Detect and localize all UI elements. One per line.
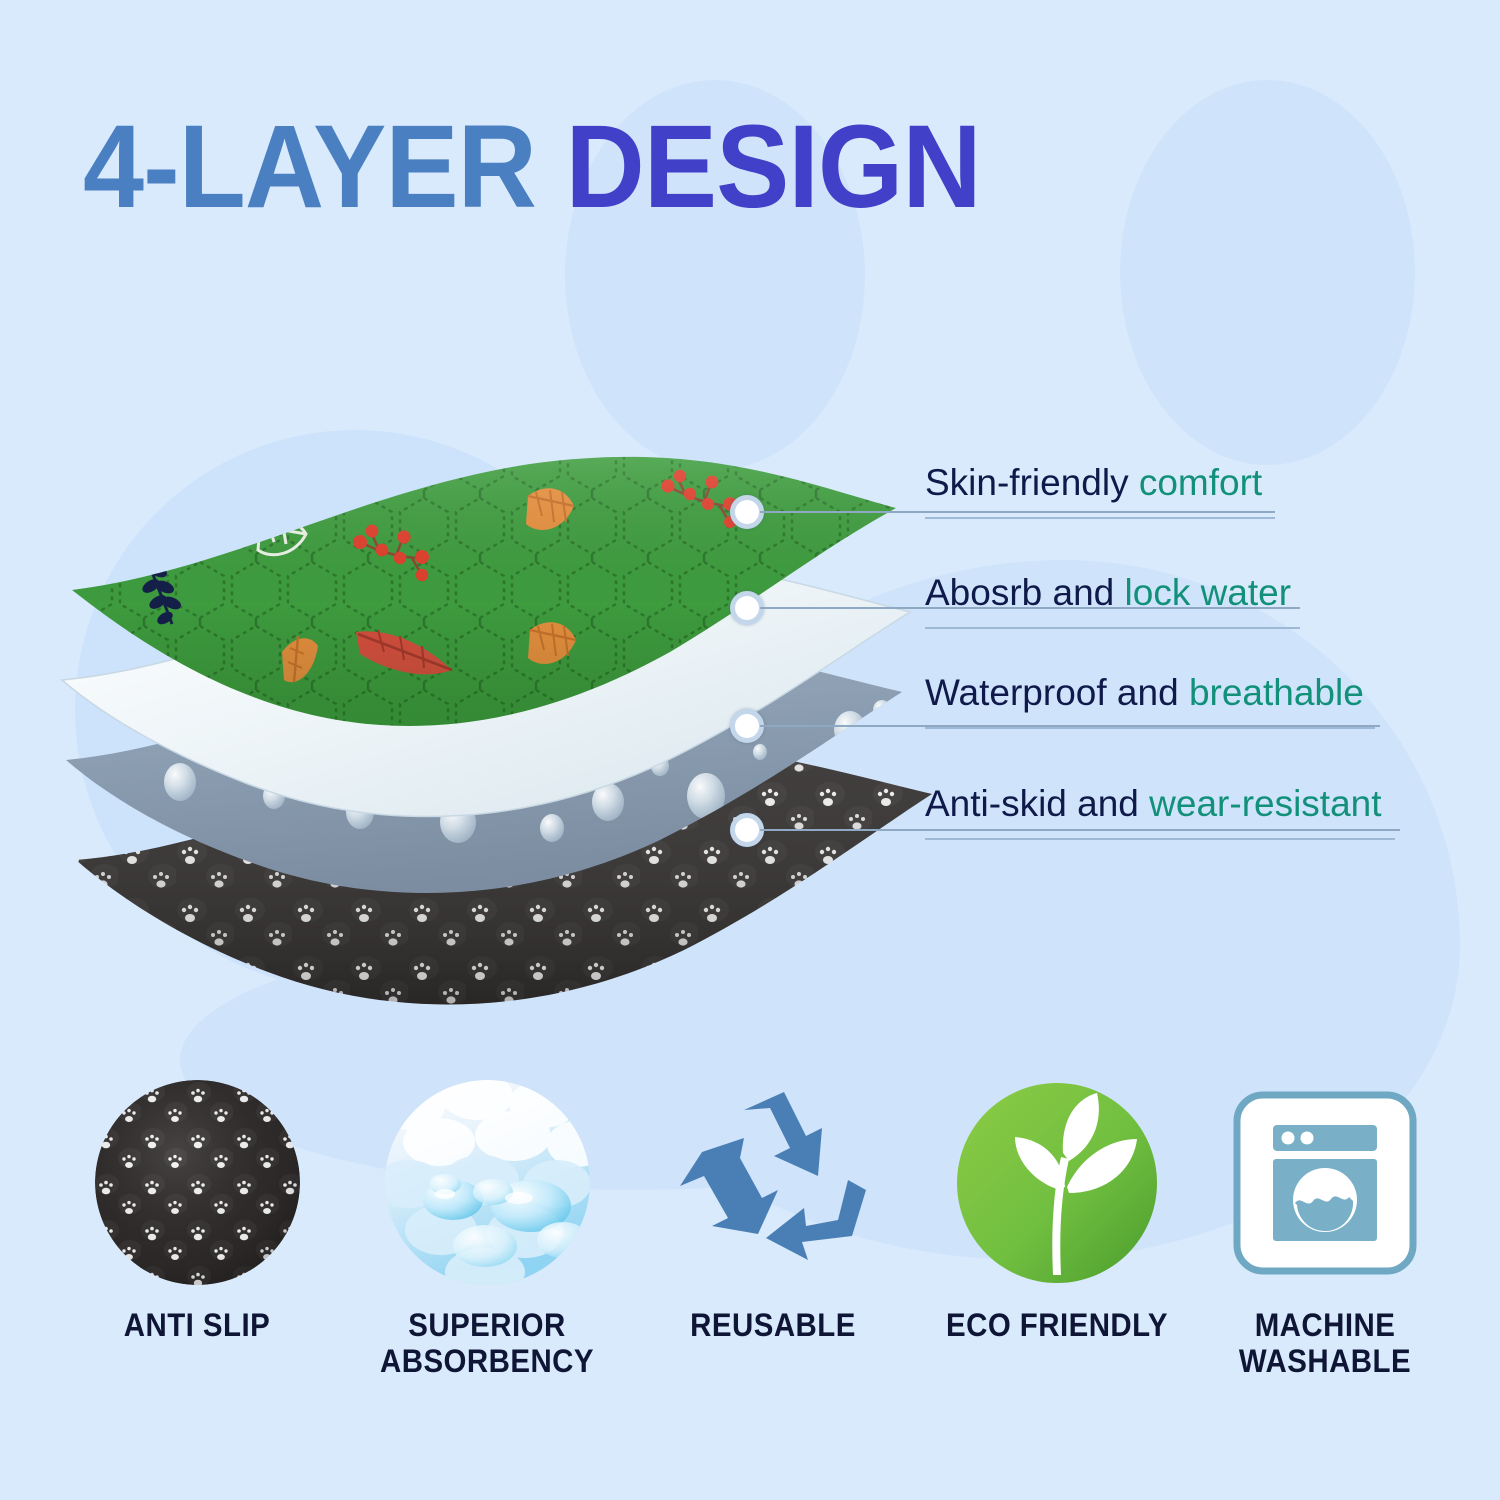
callout-marker-dot-1[interactable]	[730, 495, 764, 529]
callout-label-1: Skin-friendly comfort	[925, 462, 1262, 504]
background-ellipse-2	[1120, 80, 1415, 465]
feature-machine-washable[interactable]: MACHINE WASHABLE	[1190, 1075, 1460, 1380]
callout-label-4-dark: Anti-skid and	[925, 783, 1139, 824]
feature-eco-friendly[interactable]: ECO FRIENDLY	[922, 1075, 1192, 1344]
eco-leaf-icon	[957, 1083, 1157, 1283]
feature-label-2: SUPERIOR ABSORBENCY	[363, 1308, 611, 1380]
callout-label-2-dark: Abosrb and	[925, 572, 1114, 613]
callout-label-3-dark: Waterproof and	[925, 672, 1179, 713]
feature-icon-wrap-1	[62, 1075, 332, 1290]
callout-label-3: Waterproof and breathable	[925, 672, 1364, 714]
callout-label-4-highlight: wear-resistant	[1149, 783, 1381, 824]
callout-label-2-highlight: lock water	[1125, 572, 1292, 613]
layer-stack-illustration	[60, 430, 960, 1050]
callout-label-4: Anti-skid and wear-resistant	[925, 783, 1382, 825]
feature-icon-wrap-3	[638, 1075, 908, 1290]
page-title: 4-LAYER DESIGN	[83, 108, 981, 226]
recycle-icon	[666, 1080, 881, 1285]
feature-label-3: REUSABLE	[649, 1308, 897, 1344]
washing-machine-icon	[1225, 1083, 1425, 1283]
callout-marker-dot-4[interactable]	[730, 813, 764, 847]
callout-marker-dot-3[interactable]	[730, 709, 764, 743]
callout-underline-1	[925, 517, 1275, 519]
feature-anti-slip[interactable]: ANTI SLIP	[62, 1075, 332, 1344]
callout-label-2: Abosrb and lock water	[925, 572, 1291, 614]
feature-label-1: ANTI SLIP	[73, 1308, 321, 1344]
feature-icon-wrap-4	[922, 1075, 1192, 1290]
callout-marker-dot-2[interactable]	[730, 591, 764, 625]
feature-reusable[interactable]: REUSABLE	[638, 1075, 908, 1344]
feature-icon-wrap-2	[352, 1075, 622, 1290]
paw-print-fabric-icon	[95, 1080, 300, 1285]
callout-label-1-dark: Skin-friendly	[925, 462, 1129, 503]
feature-label-4: ECO FRIENDLY	[933, 1308, 1181, 1344]
callout-leader-line-1	[760, 511, 1275, 513]
feature-label-5: MACHINE WASHABLE	[1201, 1308, 1449, 1380]
feature-superior-absorbency[interactable]: SUPERIOR ABSORBENCY	[352, 1075, 622, 1380]
callout-label-3-highlight: breathable	[1189, 672, 1364, 713]
infographic-canvas: 4-LAYER DESIGN	[0, 0, 1500, 1500]
title-part-layer: 4-LAYER	[83, 101, 536, 233]
callout-underline-4	[925, 838, 1395, 840]
callout-label-1-highlight: comfort	[1139, 462, 1262, 503]
callout-underline-3	[925, 727, 1375, 729]
callout-leader-line-4	[760, 829, 1400, 831]
title-part-design: DESIGN	[565, 101, 980, 233]
callout-underline-2	[925, 627, 1300, 629]
feature-icon-wrap-5	[1190, 1075, 1460, 1290]
water-droplet-fabric-icon	[385, 1080, 590, 1285]
feature-row: ANTI SLIP	[0, 1075, 1500, 1435]
